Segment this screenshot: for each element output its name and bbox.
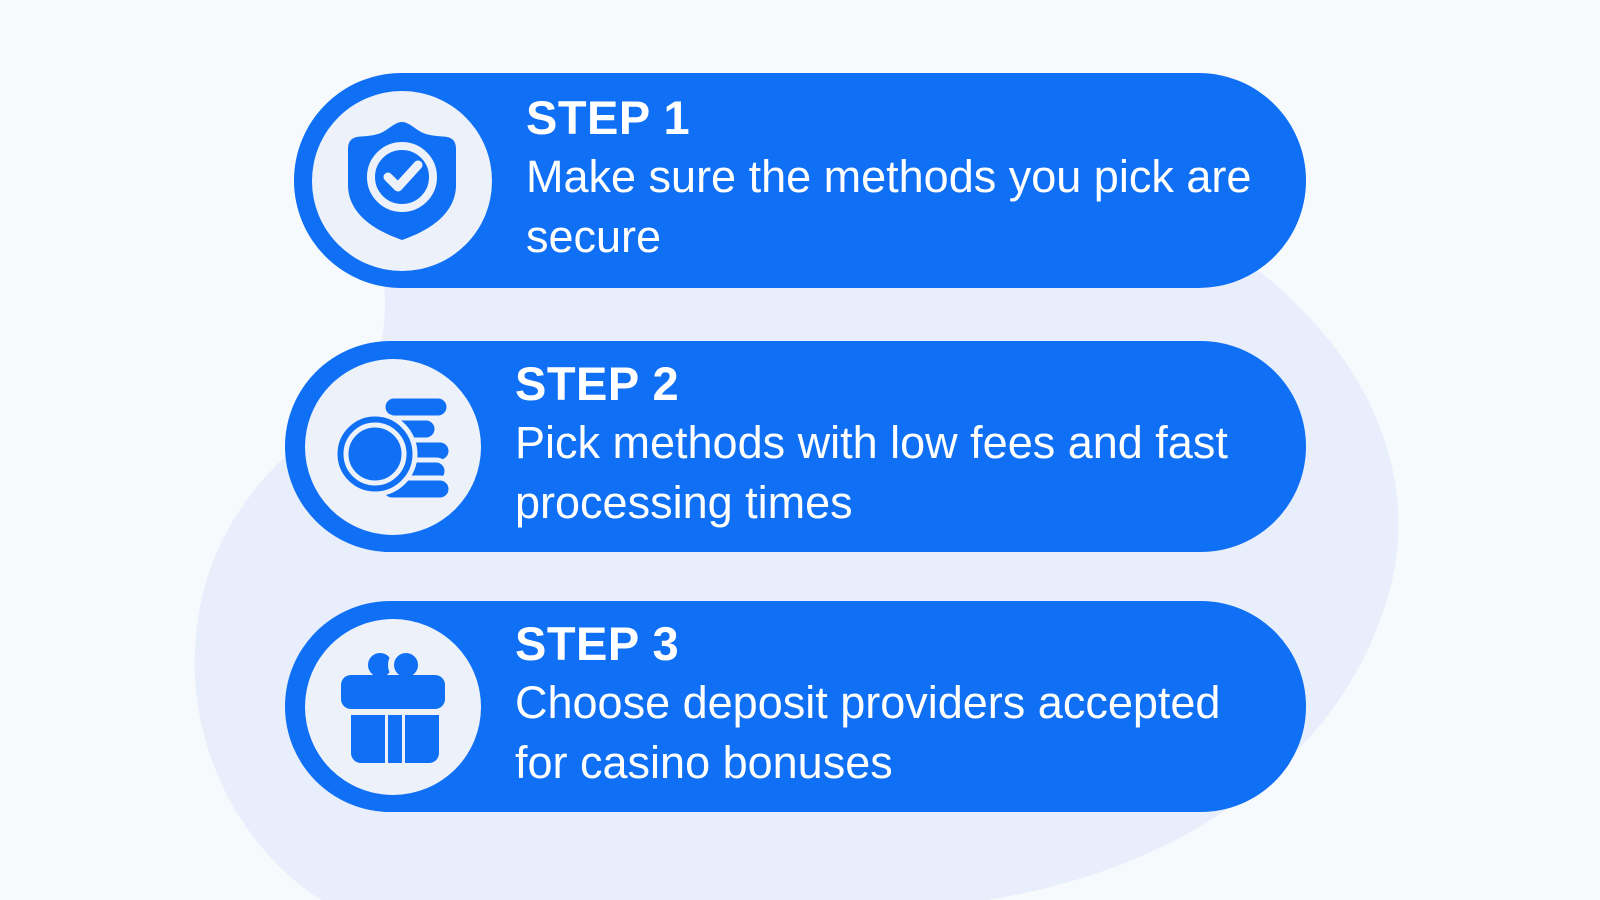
step-card-3[interactable]: STEP 3 Choose deposit providers accepted… [285, 601, 1306, 812]
step-card-1-description: Make sure the methods you pick are secur… [526, 147, 1282, 267]
step-card-3-body: STEP 3 Choose deposit providers accepted… [481, 620, 1306, 793]
step-card-3-description: Choose deposit providers accepted for ca… [515, 673, 1282, 793]
step-card-2-title: STEP 2 [515, 360, 1282, 407]
step-card-1-body: STEP 1 Make sure the methods you pick ar… [492, 94, 1306, 267]
step-card-2-description: Pick methods with low fees and fast proc… [515, 413, 1282, 533]
step-card-3-title: STEP 3 [515, 620, 1282, 667]
shield-check-icon [312, 91, 492, 271]
step-card-1-title: STEP 1 [526, 94, 1282, 141]
gift-box-icon [305, 619, 481, 795]
coin-stack-icon [305, 359, 481, 535]
step-card-2-body: STEP 2 Pick methods with low fees and fa… [481, 360, 1306, 533]
step-card-1[interactable]: STEP 1 Make sure the methods you pick ar… [294, 73, 1306, 288]
step-card-2[interactable]: STEP 2 Pick methods with low fees and fa… [285, 341, 1306, 552]
infographic-canvas: STEP 1 Make sure the methods you pick ar… [0, 0, 1600, 900]
